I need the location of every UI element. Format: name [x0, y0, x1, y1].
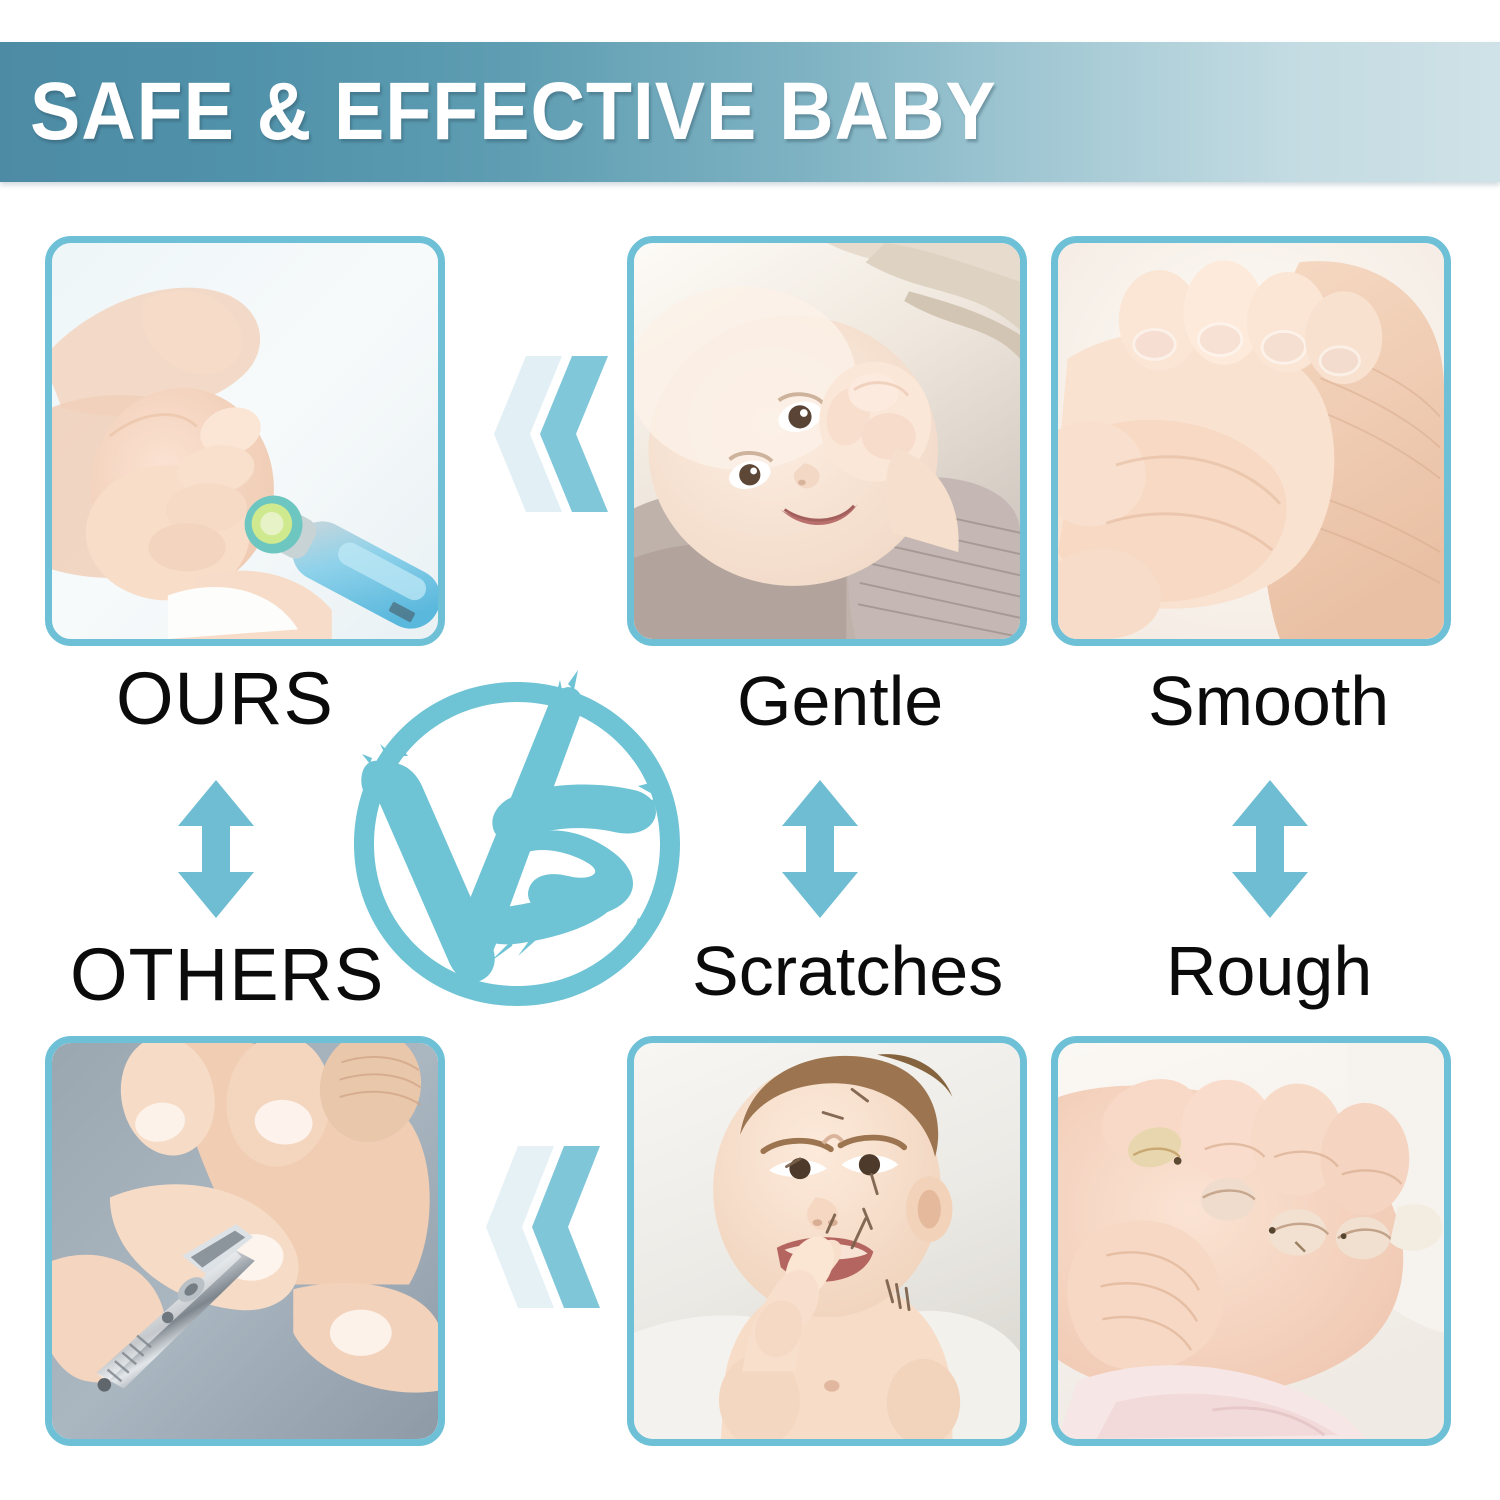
double-headed-vertical-arrow-icon	[772, 778, 868, 920]
photo-smooth-baby-nails-in-adult-hand	[1051, 236, 1451, 646]
chevron-right-icon-top	[492, 352, 608, 516]
photo-inner	[634, 243, 1020, 639]
chevron-right-icon-bottom	[484, 1142, 600, 1312]
photo-inner	[1058, 243, 1444, 639]
double-chevron-right-icon	[492, 352, 608, 516]
photo-smiling-happy-baby	[627, 236, 1027, 646]
label-gentle: Gentle	[737, 666, 943, 736]
double-headed-vertical-arrow-icon	[168, 778, 264, 920]
rough-baby-nails-illustration	[1058, 1043, 1444, 1439]
electric-baby-nail-trimmer-illustration	[52, 243, 438, 639]
metal-nail-clipper-illustration	[52, 1043, 438, 1439]
photo-rough-long-baby-nails	[1051, 1036, 1451, 1446]
label-scratches: Scratches	[692, 936, 1003, 1006]
photo-electric-baby-nail-trimmer-on-baby-hand	[45, 236, 445, 646]
double-chevron-right-icon	[484, 1142, 600, 1312]
label-rough: Rough	[1166, 936, 1372, 1006]
photo-inner	[52, 1043, 438, 1439]
photo-crying-baby-with-scratches	[627, 1036, 1027, 1446]
photo-inner	[634, 1043, 1020, 1439]
header-banner: SAFE & EFFECTIVE BABY	[0, 42, 1500, 182]
label-ours: OURS	[116, 662, 334, 736]
double-headed-vertical-arrow-icon-smooth-rough	[1222, 778, 1318, 920]
double-headed-vertical-arrow-icon-ours-others	[168, 778, 264, 920]
page-title: SAFE & EFFECTIVE BABY	[30, 71, 997, 153]
vs-logo-icon	[342, 668, 692, 1020]
label-others: OTHERS	[70, 938, 384, 1012]
photo-inner	[52, 243, 438, 639]
double-headed-vertical-arrow-icon	[1222, 778, 1318, 920]
double-headed-vertical-arrow-icon-gentle-scratches	[772, 778, 868, 920]
label-smooth: Smooth	[1148, 666, 1389, 736]
infographic-page: SAFE & EFFECTIVE BABY	[0, 0, 1500, 1500]
smiling-baby-illustration	[634, 243, 1020, 639]
crying-baby-scratches-illustration	[634, 1043, 1020, 1439]
vs-badge	[342, 668, 692, 1020]
smooth-baby-nails-illustration	[1058, 243, 1444, 639]
photo-inner	[1058, 1043, 1444, 1439]
photo-metal-nail-clipper-on-finger	[45, 1036, 445, 1446]
